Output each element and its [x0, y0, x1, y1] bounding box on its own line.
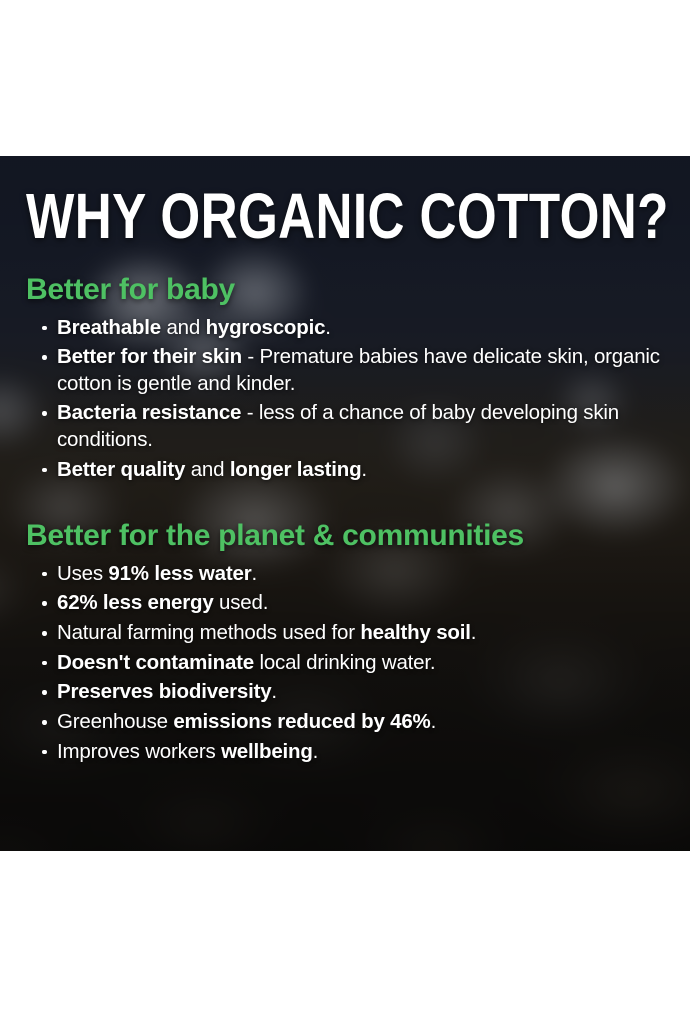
list-item-text: and [161, 316, 206, 339]
list-item: Natural farming methods used for healthy… [40, 620, 664, 647]
list-item-text: Natural farming methods used for [57, 621, 360, 644]
infographic-panel: WHY ORGANIC COTTON? Better for baby Brea… [0, 156, 690, 851]
list-item: Uses 91% less water. [40, 561, 664, 588]
list-item: Preserves biodiversity. [40, 679, 664, 706]
list-item-text: . [313, 740, 319, 763]
list-item-text: Greenhouse [57, 710, 173, 733]
infographic-content: WHY ORGANIC COTTON? Better for baby Brea… [0, 156, 690, 851]
list-item: Better quality and longer lasting. [40, 457, 664, 484]
page-title: WHY ORGANIC COTTON? [26, 156, 536, 248]
list-item-emphasis: wellbeing [221, 740, 313, 763]
list-item: Bacteria resistance - less of a chance o… [40, 400, 664, 453]
list-item: Doesn't contaminate local drinking water… [40, 650, 664, 677]
list-item-emphasis: longer lasting [230, 458, 362, 481]
list-item-emphasis: Better quality [57, 458, 185, 481]
bullet-list-better-for-baby: Breathable and hygroscopic.Better for th… [26, 315, 664, 484]
list-item: Greenhouse emissions reduced by 46%. [40, 709, 664, 736]
list-item-text: used. [214, 591, 269, 614]
section-heading-better-for-planet: Better for the planet & communities [26, 520, 664, 552]
list-item-text: and [185, 458, 230, 481]
list-item-emphasis: Doesn't contaminate [57, 651, 254, 674]
list-item-emphasis: Bacteria resistance [57, 401, 241, 424]
list-item-text: local drinking water. [254, 651, 435, 674]
list-item-text: Improves workers [57, 740, 221, 763]
list-item-emphasis: hygroscopic [206, 316, 326, 339]
list-item-text: . [471, 621, 477, 644]
section-spacer [26, 486, 664, 520]
list-item-emphasis: 62% less energy [57, 591, 214, 614]
list-item-emphasis: Preserves biodiversity [57, 680, 271, 703]
list-item-emphasis: Better for their skin [57, 345, 242, 368]
list-item-emphasis: healthy soil [360, 621, 470, 644]
section-heading-better-for-baby: Better for baby [26, 274, 664, 306]
page-root: WHY ORGANIC COTTON? Better for baby Brea… [0, 0, 690, 1024]
list-item-text: . [325, 316, 331, 339]
list-item: Breathable and hygroscopic. [40, 315, 664, 342]
list-item: Improves workers wellbeing. [40, 739, 664, 766]
list-item-emphasis: 91% less water [108, 562, 251, 585]
list-item: 62% less energy used. [40, 590, 664, 617]
bullet-list-better-for-planet: Uses 91% less water.62% less energy used… [26, 561, 664, 765]
list-item-text: . [361, 458, 367, 481]
list-item-emphasis: Breathable [57, 316, 161, 339]
list-item-text: . [251, 562, 257, 585]
list-item: Better for their skin - Premature babies… [40, 344, 664, 397]
list-item-emphasis: emissions reduced by 46% [173, 710, 430, 733]
list-item-text: . [271, 680, 277, 703]
list-item-text: . [431, 710, 437, 733]
list-item-text: Uses [57, 562, 108, 585]
